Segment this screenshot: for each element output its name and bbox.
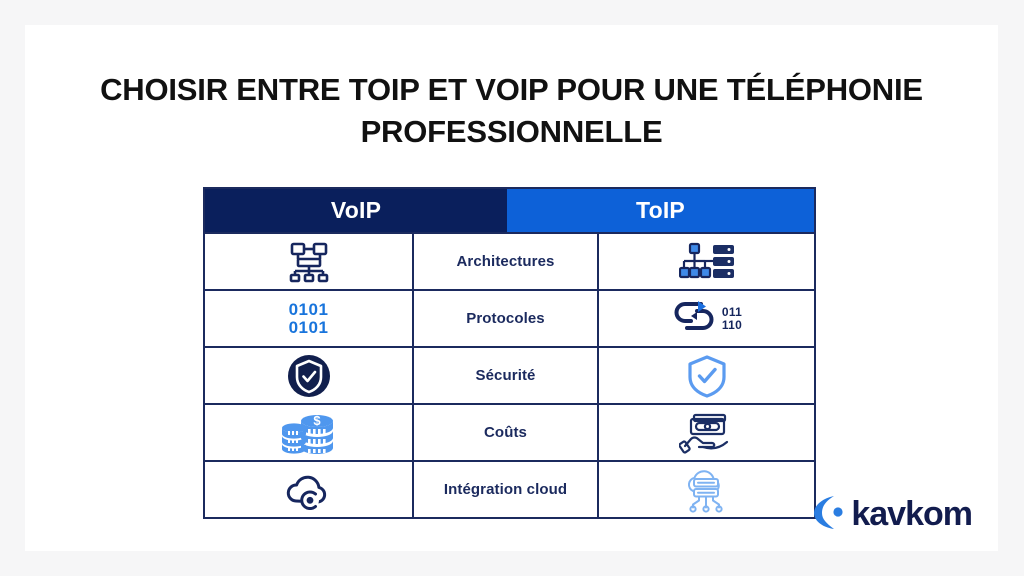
- binary-code-icon: 0101 0101: [289, 291, 329, 346]
- binary-line-2: 110: [722, 318, 742, 332]
- table-header-toip: ToIP: [507, 189, 814, 232]
- page-title: CHOISIR ENTRE TOIP ET VOIP POUR UNE TÉLÉ…: [85, 69, 938, 153]
- svg-text:$: $: [313, 413, 321, 428]
- voip-icon-cell: 0101 0101: [205, 291, 414, 346]
- feature-label-cell: Protocoles: [414, 291, 599, 346]
- chain-link-arrow-icon: [671, 299, 717, 338]
- feature-label: Architectures: [456, 253, 554, 270]
- table-row: $ Coûts: [205, 403, 814, 460]
- shield-check-filled-icon: [287, 348, 331, 403]
- table-row: 0101 0101 Protocoles: [205, 289, 814, 346]
- binary-line-1: 0101: [289, 300, 329, 319]
- feature-label: Protocoles: [466, 310, 545, 327]
- network-hierarchy-icon: [285, 234, 333, 289]
- table-header-row: VoIP ToIP: [205, 189, 814, 232]
- voip-icon-cell: $: [205, 405, 414, 460]
- kavkom-crescent-dot-icon: [814, 494, 844, 535]
- feature-label: Coûts: [484, 424, 527, 441]
- toip-icon-cell: [599, 462, 814, 517]
- slide-card: CHOISIR ENTRE TOIP ET VOIP POUR UNE TÉLÉ…: [25, 25, 998, 551]
- binary-line-2: 0101: [289, 318, 329, 337]
- voip-icon-cell: [205, 234, 414, 289]
- toip-icon-cell: [599, 348, 814, 403]
- hand-holding-money-icon: [679, 405, 735, 460]
- cloud-connection-icon: [284, 462, 334, 517]
- table-row: Intégration cloud: [205, 460, 814, 517]
- kavkom-logo[interactable]: kavkom: [814, 494, 972, 535]
- table-row: Sécurité: [205, 346, 814, 403]
- toip-icon-cell: 011 110: [599, 291, 814, 346]
- voip-icon-cell: [205, 462, 414, 517]
- slide-canvas: CHOISIR ENTRE TOIP ET VOIP POUR UNE TÉLÉ…: [0, 0, 1024, 576]
- feature-label-cell: Intégration cloud: [414, 462, 599, 517]
- protocol-binary-text: 011 110: [722, 306, 742, 332]
- table-header-voip: VoIP: [205, 189, 507, 232]
- feature-label: Intégration cloud: [444, 481, 567, 498]
- cloud-server-network-icon: [683, 462, 731, 517]
- feature-label-cell: Coûts: [414, 405, 599, 460]
- toip-icon-cell: [599, 234, 814, 289]
- kavkom-wordmark: kavkom: [851, 495, 972, 534]
- feature-label: Sécurité: [476, 367, 536, 384]
- toip-icon-cell: [599, 405, 814, 460]
- protocol-icon-group: 011 110: [671, 299, 742, 338]
- feature-label-cell: Architectures: [414, 234, 599, 289]
- feature-label-cell: Sécurité: [414, 348, 599, 403]
- network-server-rack-icon: [679, 234, 735, 289]
- coin-stack-dollar-icon: $: [280, 405, 338, 460]
- binary-line-1: 011: [722, 305, 742, 319]
- voip-icon-cell: [205, 348, 414, 403]
- table-row: Architectures: [205, 232, 814, 289]
- shield-check-outline-icon: [686, 348, 728, 403]
- comparison-table: VoIP ToIP: [203, 187, 816, 519]
